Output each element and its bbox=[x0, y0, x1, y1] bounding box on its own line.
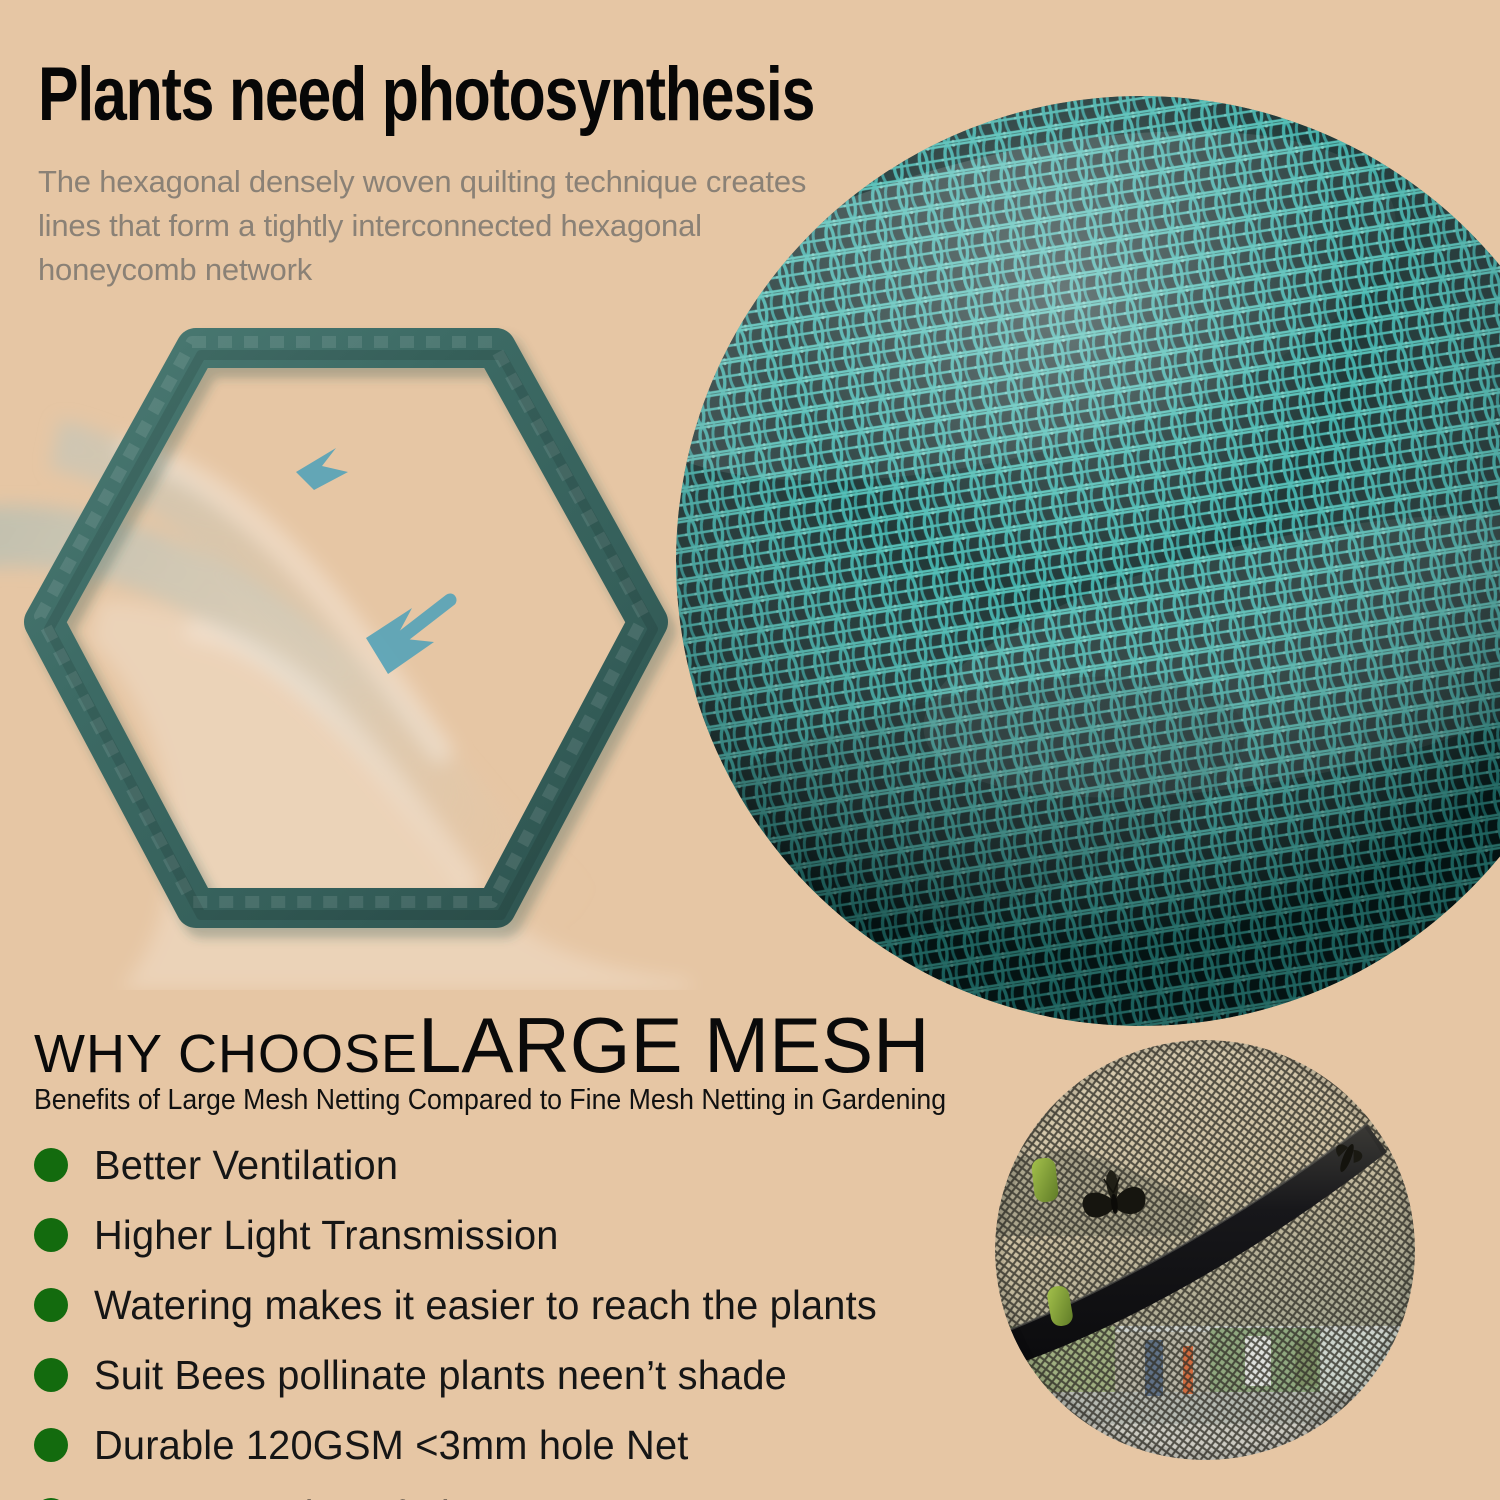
list-item: Durable 120GSM <3mm hole Net bbox=[34, 1410, 954, 1480]
fine-mesh-photo-graphic bbox=[995, 1040, 1415, 1460]
list-item: Better Ventilation bbox=[34, 1130, 954, 1200]
bullet-dot-icon bbox=[34, 1148, 68, 1182]
infographic-page: Plants need photosynthesis The hexagonal… bbox=[0, 0, 1500, 1500]
list-item: Watering makes it easier to reach the pl… bbox=[34, 1270, 954, 1340]
why-choose-small-text: WHY CHOOSE bbox=[34, 1024, 418, 1084]
fine-mesh-photo bbox=[995, 1040, 1415, 1460]
list-item-label: Durable 120GSM <3mm hole Net bbox=[94, 1422, 689, 1469]
list-item: UV50+ mesh no fade bbox=[34, 1480, 954, 1500]
airflow-arrow-1 bbox=[296, 448, 348, 490]
list-item-label: Watering makes it easier to reach the pl… bbox=[94, 1282, 877, 1329]
bullet-dot-icon bbox=[34, 1428, 68, 1462]
list-item-label: Higher Light Transmission bbox=[94, 1212, 559, 1259]
bullet-dot-icon bbox=[34, 1218, 68, 1252]
list-item: Higher Light Transmission bbox=[34, 1200, 954, 1270]
why-choose-large-text: LARGE MESH bbox=[418, 1001, 929, 1089]
benefits-list: Better Ventilation Higher Light Transmis… bbox=[34, 1130, 954, 1500]
list-item-label: UV50+ mesh no fade bbox=[94, 1492, 472, 1500]
list-item: Suit Bees pollinate plants neen’t shade bbox=[34, 1340, 954, 1410]
list-item-label: Suit Bees pollinate plants neen’t shade bbox=[94, 1352, 787, 1399]
large-mesh-photo bbox=[676, 96, 1500, 1026]
benefits-subtitle: Benefits of Large Mesh Netting Compared … bbox=[34, 1084, 946, 1117]
bullet-dot-icon bbox=[34, 1288, 68, 1322]
list-item-label: Better Ventilation bbox=[94, 1142, 398, 1189]
why-choose-heading: WHY CHOOSELARGE MESH bbox=[34, 1000, 930, 1091]
mesh-texture-graphic bbox=[676, 96, 1500, 1026]
hexagon-diagram-graphic bbox=[0, 300, 720, 990]
hexagon-airflow-diagram bbox=[0, 300, 720, 990]
bullet-dot-icon bbox=[34, 1358, 68, 1392]
